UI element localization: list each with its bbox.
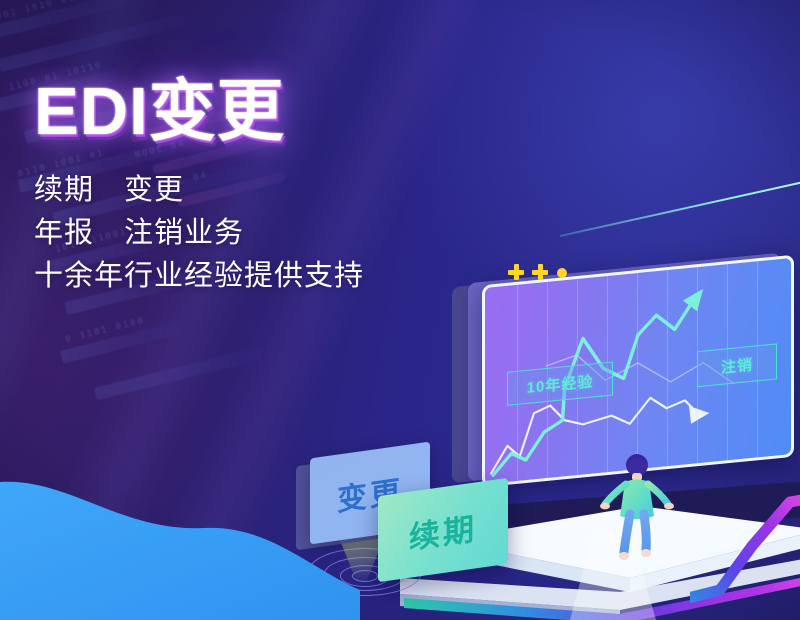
walking-person-illustration bbox=[600, 452, 674, 570]
card-renew[interactable]: 续期 bbox=[378, 478, 508, 582]
banner-canvas: 01001 1010 0110 1100 01 10110 0110 1001 … bbox=[0, 0, 800, 620]
plus-icon bbox=[508, 264, 524, 280]
subtitle-line-2: 年报 注销业务 bbox=[34, 212, 504, 255]
subtitle-line-1: 续期 变更 bbox=[34, 169, 504, 212]
bottom-wave-shape bbox=[0, 440, 360, 620]
dot-marker-icon bbox=[557, 268, 567, 278]
plus-icon bbox=[532, 264, 548, 280]
gradient-path-line bbox=[690, 480, 800, 620]
page-title: EDI变更 bbox=[34, 78, 504, 145]
